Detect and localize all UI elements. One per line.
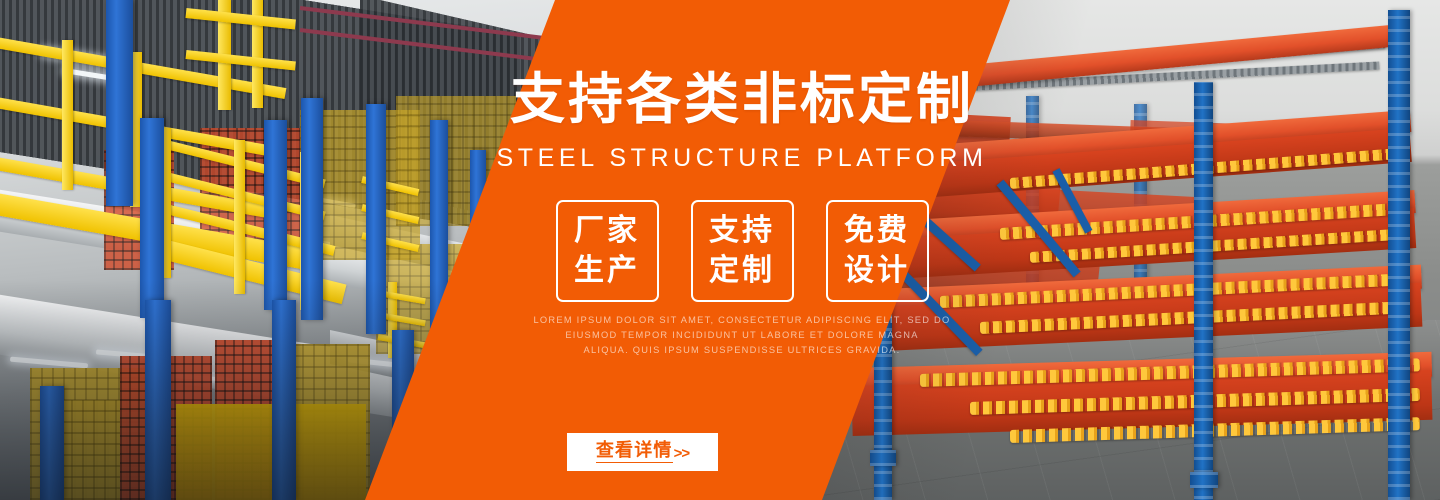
description-line-1: LOREM IPSUM DOLOR SIT AMET, CONSECTETUR … <box>22 313 1440 328</box>
badge-line-1: 厂家 <box>574 211 640 251</box>
feature-badge-factory-production[interactable]: 厂家 生产 <box>556 200 659 302</box>
feature-badge-group: 厂家 生产 支持 定制 免费 设计 <box>22 200 1440 302</box>
feature-badge-free-design[interactable]: 免费 设计 <box>826 200 929 302</box>
banner-subtitle: STEEL STRUCTURE PLATFORM <box>22 146 1440 171</box>
badge-line-2: 定制 <box>709 251 775 291</box>
page-title: 支持各类非标定制 <box>22 72 1440 127</box>
view-details-button[interactable]: 查看详情 >> <box>567 433 718 471</box>
banner-description: LOREM IPSUM DOLOR SIT AMET, CONSECTETUR … <box>22 313 1440 358</box>
description-line-2: EIUSMOD TEMPOR INCIDIDUNT UT LABORE ET D… <box>22 328 1440 343</box>
view-details-label: 查看详情 <box>596 441 673 463</box>
badge-line-1: 免费 <box>844 211 910 251</box>
description-line-3: ALIQUA. QUIS IPSUM SUSPENDISSE ULTRICES … <box>22 343 1440 358</box>
double-chevron-right-icon: >> <box>674 445 690 462</box>
badge-line-1: 支持 <box>709 211 775 251</box>
banner-content: 支持各类非标定制 STEEL STRUCTURE PLATFORM 厂家 生产 … <box>0 0 1440 500</box>
badge-line-2: 设计 <box>844 251 910 291</box>
feature-badge-custom-support[interactable]: 支持 定制 <box>691 200 794 302</box>
badge-line-2: 生产 <box>574 251 640 291</box>
promo-banner: 支持各类非标定制 STEEL STRUCTURE PLATFORM 厂家 生产 … <box>0 0 1440 500</box>
